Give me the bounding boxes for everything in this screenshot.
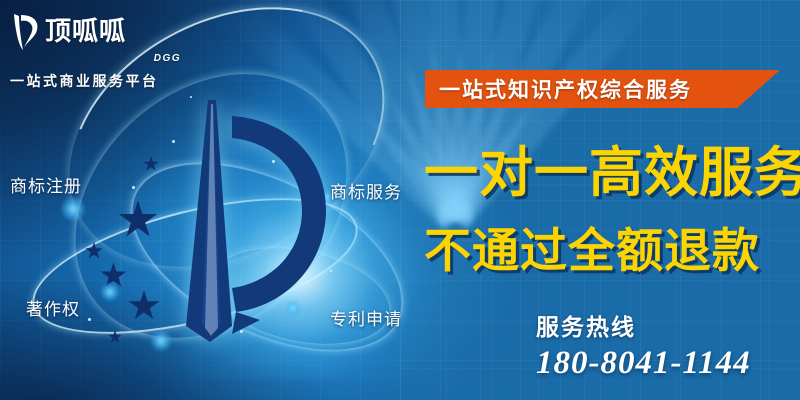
keyword-label-trademark-service: 商标服务 <box>330 178 402 203</box>
brand-logo[interactable]: 顶呱呱 DGG 一站式商业服务平台 <box>10 12 185 91</box>
sparkle-dot <box>132 186 135 189</box>
sparkle-dot <box>100 282 120 302</box>
dgg-wing-mark-icon <box>10 12 40 52</box>
brand-name: 顶呱呱 <box>45 19 126 45</box>
brand-tagline: 一站式商业服务平台 <box>10 71 185 91</box>
promo-headline-primary: 一对一高效服务 <box>424 146 800 200</box>
dgg-tower-arc-emblem-icon <box>140 98 330 343</box>
keyword-label-trademark-registration: 商标注册 <box>10 172 82 197</box>
hotline-number[interactable]: 180-8041-1144 <box>536 345 751 382</box>
promotional-banner: 顶呱呱 DGG 一站式商业服务平台 商标注册 商标服务 著作权 专利申请 一站式… <box>0 0 800 400</box>
hotline-label: 服务热线 <box>536 308 636 342</box>
sparkle-dot <box>330 270 332 272</box>
keyword-label-patent-application: 专利申请 <box>330 305 402 330</box>
promo-ribbon-text: 一站式知识产权综合服务 <box>439 74 692 104</box>
sparkle-dot <box>60 196 86 222</box>
keyword-label-copyright: 著作权 <box>26 295 80 320</box>
promo-ribbon: 一站式知识产权综合服务 <box>425 70 780 108</box>
promo-headline-secondary: 不通过全额退款 <box>424 228 760 275</box>
sparkle-dot <box>88 318 91 321</box>
brand-abbr: DGG <box>10 53 181 64</box>
